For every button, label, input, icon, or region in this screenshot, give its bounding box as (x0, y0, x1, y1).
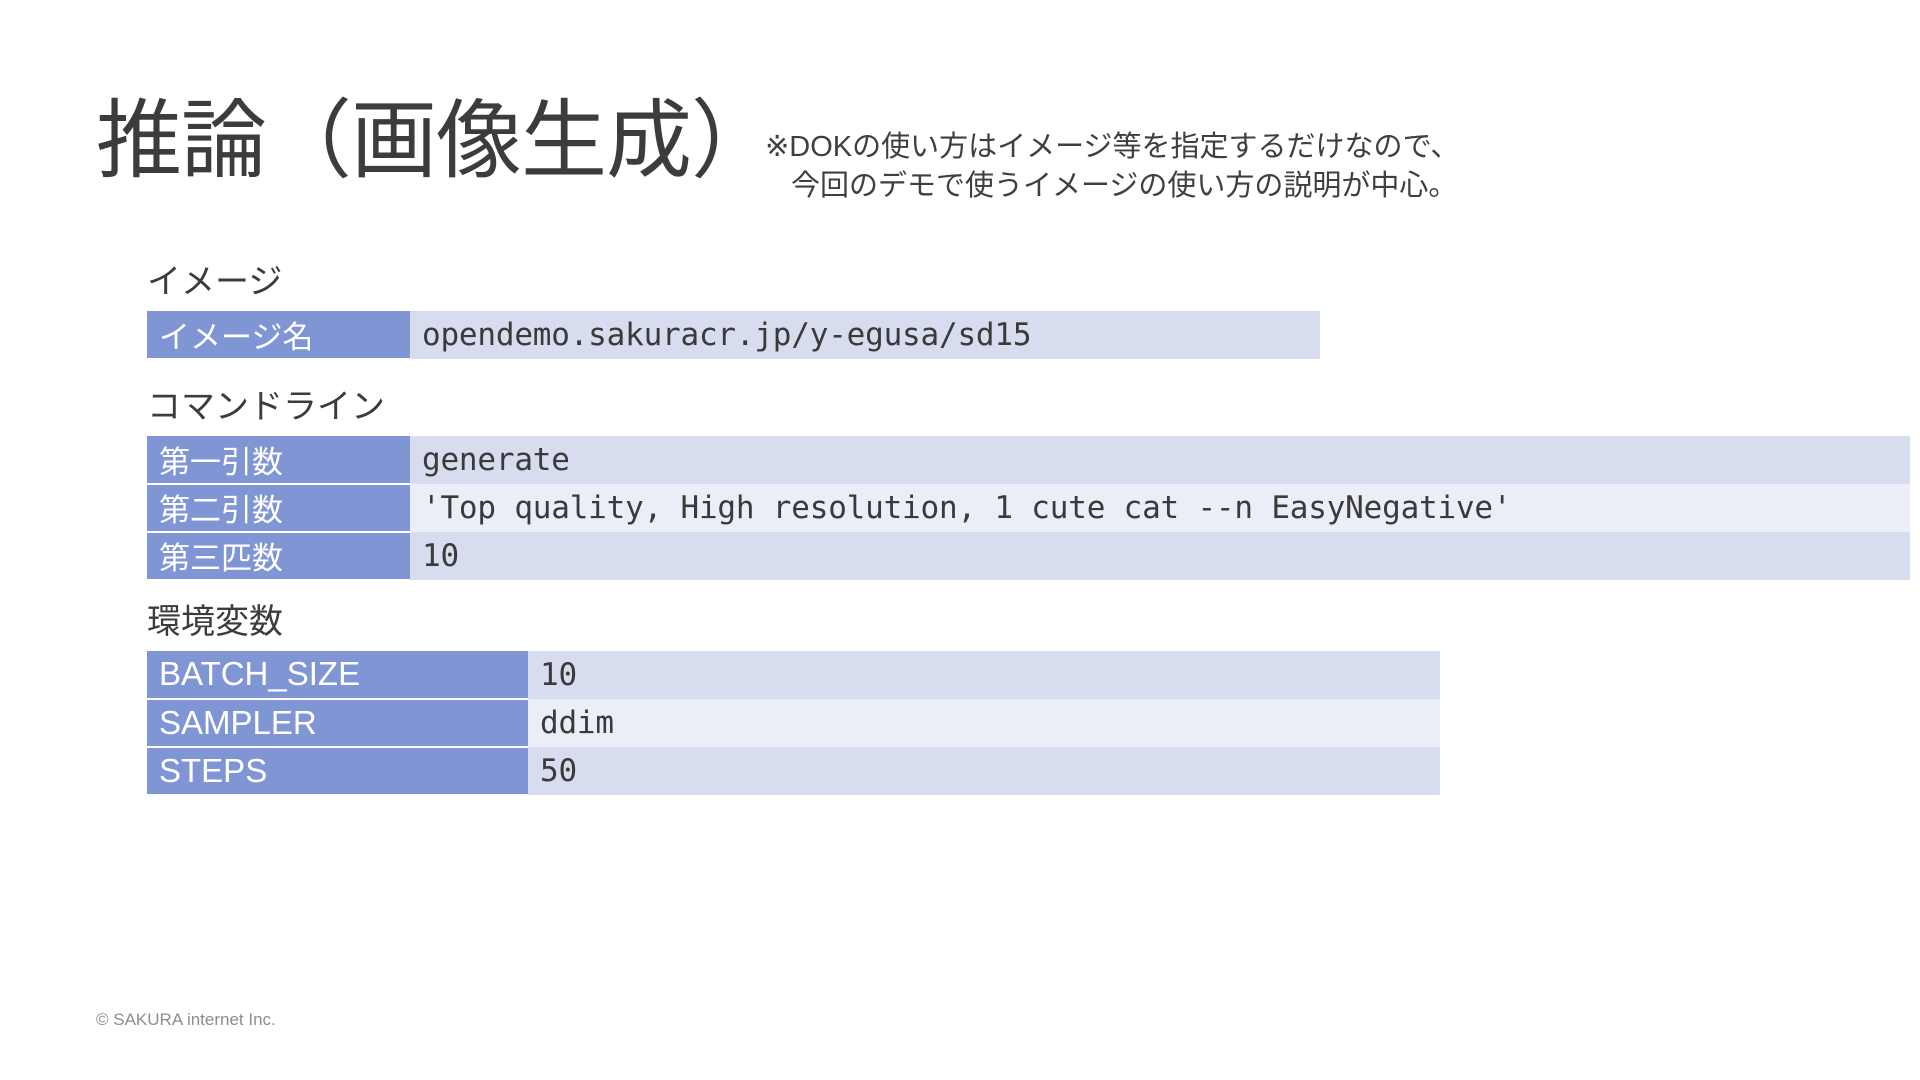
environment-variables-table: BATCH_SIZE 10 SAMPLER ddim STEPS 50 (147, 651, 1440, 796)
table-cell-value: 10 (528, 651, 1440, 699)
table-cell-value: generate (410, 436, 1910, 484)
section-image-heading: イメージ (147, 262, 1320, 303)
annotation-line-2: 今回のデモで使うイメージの使い方の説明が中心。 (765, 167, 1459, 206)
table-cell-key: BATCH_SIZE (147, 651, 528, 699)
table-row: BATCH_SIZE 10 (147, 651, 1440, 699)
table-row: SAMPLER ddim (147, 699, 1440, 747)
table-row: STEPS 50 (147, 747, 1440, 795)
table-cell-key: 第一引数 (147, 436, 410, 484)
section-commandline-heading: コマンドライン (147, 387, 1910, 428)
section-environment-variables: 環境変数 BATCH_SIZE 10 SAMPLER ddim STEPS 50 (147, 602, 1440, 796)
annotation-line-1: ※DOKの使い方はイメージ等を指定するだけなので、 (765, 131, 1459, 163)
table-row: 第二引数 'Top quality, High resolution, 1 cu… (147, 484, 1910, 532)
slide-header: 推論（画像生成） ※DOKの使い方はイメージ等を指定するだけなので、 今回のデモ… (0, 0, 1920, 230)
table-cell-key: STEPS (147, 747, 528, 795)
page-title: 推論（画像生成） (96, 96, 776, 186)
section-environment-variables-heading: 環境変数 (147, 602, 1440, 643)
image-table: イメージ名 opendemo.sakuracr.jp/y-egusa/sd15 (147, 311, 1320, 360)
table-cell-key: 第三匹数 (147, 532, 410, 580)
section-image: イメージ イメージ名 opendemo.sakuracr.jp/y-egusa/… (147, 262, 1320, 360)
table-cell-value: 'Top quality, High resolution, 1 cute ca… (410, 484, 1910, 532)
commandline-table: 第一引数 generate 第二引数 'Top quality, High re… (147, 436, 1910, 581)
table-cell-key: SAMPLER (147, 699, 528, 747)
table-cell-key: 第二引数 (147, 484, 410, 532)
title-annotation: ※DOKの使い方はイメージ等を指定するだけなので、 今回のデモで使うイメージの使… (765, 128, 1459, 206)
table-cell-value: 50 (528, 747, 1440, 795)
section-commandline: コマンドライン 第一引数 generate 第二引数 'Top quality,… (147, 387, 1910, 581)
table-row: イメージ名 opendemo.sakuracr.jp/y-egusa/sd15 (147, 311, 1320, 359)
copyright-footer: © SAKURA internet Inc. (96, 1010, 276, 1030)
table-row: 第一引数 generate (147, 436, 1910, 484)
table-cell-value: 10 (410, 532, 1910, 580)
table-cell-value: opendemo.sakuracr.jp/y-egusa/sd15 (410, 311, 1320, 359)
table-cell-value: ddim (528, 699, 1440, 747)
table-row: 第三匹数 10 (147, 532, 1910, 580)
table-cell-key: イメージ名 (147, 311, 410, 359)
